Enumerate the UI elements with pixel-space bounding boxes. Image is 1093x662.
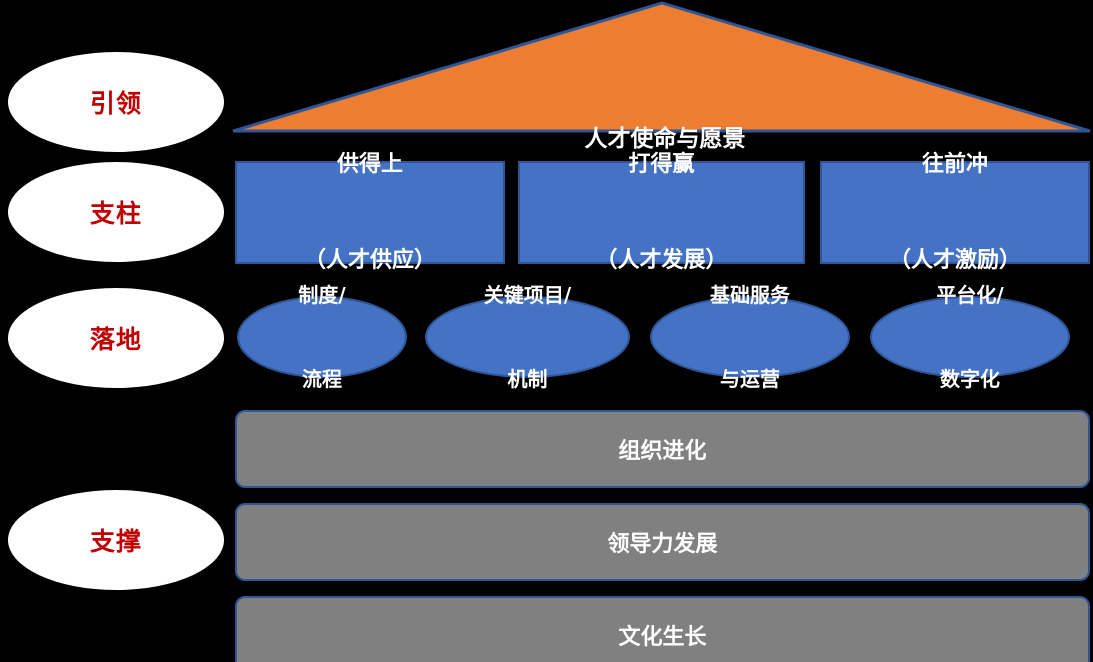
base-bar-culture-growth-label: 文化生长 <box>618 619 706 651</box>
oval-platform-digital-line-2: 数字化 <box>936 365 1003 393</box>
oval-key-projects-line-1: 关键项目/ <box>484 281 571 309</box>
side-label-support-text: 支撑 <box>90 522 142 558</box>
oval-key-projects-line-2: 机制 <box>484 365 571 393</box>
pillar-incentive-line-1: 往前冲 <box>889 149 1021 181</box>
oval-system-process-line-2: 流程 <box>298 365 345 393</box>
oval-basic-services-line-2: 与运营 <box>710 365 790 393</box>
oval-platform-digital-line-1: 平台化/ <box>936 281 1003 309</box>
side-label-pillar: 支柱 <box>8 162 224 262</box>
pillar-development-line-2: （人才发展） <box>595 245 727 277</box>
base-bar-org-evolution[interactable]: 组织进化 <box>235 410 1090 488</box>
pillar-supply-line-1: 供得上 <box>304 149 436 181</box>
pillar-development-line-1: 打得赢 <box>595 149 727 181</box>
oval-basic-services-line-1: 基础服务 <box>710 281 790 309</box>
base-bar-leadership-dev-label: 领导力发展 <box>607 526 717 558</box>
oval-system-process[interactable]: 制度/ 流程 <box>237 296 407 378</box>
diagram-canvas: 人才使命与愿景 人才理念 人才战略 引领 支柱 落地 支撑 供得上 （人才供应）… <box>0 0 1093 662</box>
side-label-pillar-text: 支柱 <box>90 194 142 230</box>
base-bar-culture-growth[interactable]: 文化生长 <box>235 596 1090 662</box>
oval-platform-digital[interactable]: 平台化/ 数字化 <box>870 296 1070 378</box>
oval-basic-services[interactable]: 基础服务 与运营 <box>650 296 850 378</box>
side-label-landing: 落地 <box>8 288 224 388</box>
oval-key-projects[interactable]: 关键项目/ 机制 <box>425 296 630 378</box>
side-label-landing-text: 落地 <box>90 320 142 356</box>
base-bar-org-evolution-label: 组织进化 <box>618 433 706 465</box>
side-label-support: 支撑 <box>8 490 224 590</box>
oval-system-process-line-1: 制度/ <box>298 281 345 309</box>
base-bar-leadership-dev[interactable]: 领导力发展 <box>235 503 1090 581</box>
side-label-lead: 引领 <box>8 52 224 152</box>
pillar-supply[interactable]: 供得上 （人才供应） <box>235 161 505 264</box>
side-label-lead-text: 引领 <box>90 84 142 120</box>
